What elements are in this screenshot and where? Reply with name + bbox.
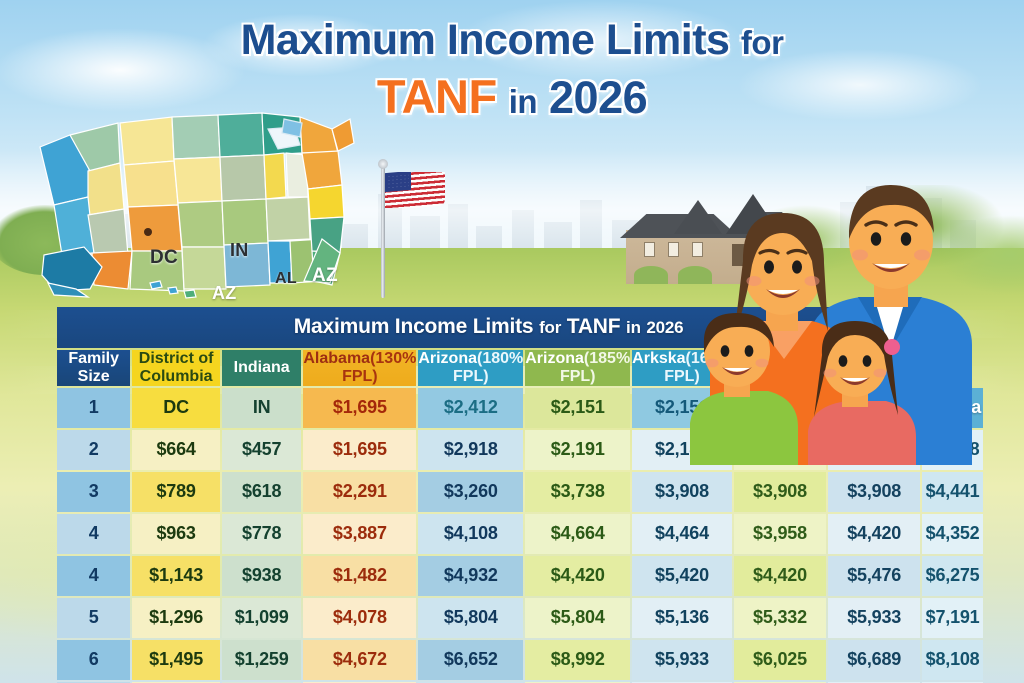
cell-value: $6,689 <box>828 640 920 680</box>
cell-value: $2,191 <box>525 430 630 470</box>
cell-family-size: 3 <box>57 472 130 512</box>
column-header-0[interactable]: FamilySize <box>57 350 130 386</box>
map-label-az-4: AZ <box>212 283 237 304</box>
cell-value: $1,695 <box>303 430 416 470</box>
cell-value: DC <box>132 388 220 428</box>
cell-value: $2,181 <box>632 430 732 470</box>
cell-value: $789 <box>132 472 220 512</box>
column-header-name: Arizona <box>525 350 584 367</box>
cell-value: $1,099 <box>222 598 301 638</box>
map-label-al-2: AL <box>275 270 297 288</box>
cell-value: $4,441 <box>922 472 983 512</box>
table-row: 5$1,296$1,099$4,078$5,804$5,804$5,136$5,… <box>57 598 983 638</box>
income-limits-table-wrapper: Maximum Income Limits for TANF in 2026 F… <box>55 305 985 683</box>
column-header-2[interactable]: Indiana <box>222 350 301 386</box>
title-tanf-text: TANF <box>377 70 497 123</box>
column-header-6[interactable]: Arkska(165% FPL) <box>632 350 732 386</box>
cell-family-size: 2 <box>57 430 130 470</box>
table-title-year: 2026 <box>646 318 683 337</box>
cell-value: $6,025 <box>734 640 826 680</box>
table-title-in: in <box>626 318 641 337</box>
cell-value: $4,108 <box>418 514 523 554</box>
column-header-name: Arkska <box>632 350 685 367</box>
cell-value: $4,420 <box>828 514 920 554</box>
cell-family-size: 6 <box>57 640 130 680</box>
cell-value: $3,958 <box>734 514 826 554</box>
column-header-name2: Columbia <box>140 368 213 385</box>
cell-value: $963 <box>132 514 220 554</box>
cell-value: $1,143 <box>132 556 220 596</box>
cell-value: Alaska <box>922 388 983 428</box>
cell-value: $3,698 <box>922 430 983 470</box>
cell-value: $1,695 <box>303 388 416 428</box>
cell-value: $5,476 <box>828 556 920 596</box>
title-for-text: for <box>741 24 784 61</box>
income-limits-table: Maximum Income Limits for TANF in 2026 F… <box>55 305 985 683</box>
map-label-in-1: IN <box>230 240 249 261</box>
cell-value: $5,804 <box>418 598 523 638</box>
cell-value: $7,191 <box>922 598 983 638</box>
table-column-header-row: FamilySizeDistrict ofColumbiaIndianaAlab… <box>57 350 983 386</box>
cell-family-size: 1 <box>57 388 130 428</box>
cell-family-size: 4 <box>57 556 130 596</box>
cell-value: $1,482 <box>303 556 416 596</box>
cell-family-size: 4 <box>57 514 130 554</box>
cell-value: $4,932 <box>418 556 523 596</box>
cell-value: $5,933 <box>828 598 920 638</box>
column-header-name2: Size <box>78 368 110 385</box>
map-marker-dot <box>144 228 152 236</box>
cell-value: $778 <box>222 514 301 554</box>
table-body: 1DCIN$1,695$2,412$2,151$2,151$2,608Alask… <box>57 388 983 683</box>
cell-value: $5,420 <box>632 556 732 596</box>
cell-value: $5,933 <box>632 640 732 680</box>
column-header-7[interactable] <box>734 350 826 386</box>
title-main-text: Maximum Income Limits <box>241 16 730 64</box>
cell-value: $4,078 <box>303 598 416 638</box>
column-header-name: Arizona <box>418 350 477 367</box>
page-title: Maximum Income Limits for TANF in 2026 <box>0 18 1024 124</box>
column-header-5[interactable]: Arizona(185% FPL) <box>525 350 630 386</box>
cell-value: $6,275 <box>922 556 983 596</box>
column-header-4[interactable]: Arizona(180% FPL) <box>418 350 523 386</box>
column-header-name: Family <box>68 350 119 367</box>
table-title-for: for <box>539 318 561 337</box>
cell-value: $4,420 <box>734 556 826 596</box>
table-row: 2$664$457$1,695$2,918$2,191$2,181$3,608$… <box>57 430 983 470</box>
column-header-3[interactable]: Alabama(130% FPL) <box>303 350 416 386</box>
cell-value: $664 <box>132 430 220 470</box>
cell-value: $4,352 <box>922 514 983 554</box>
table-row: 6$1,495$1,259$4,672$6,652$8,992$5,933$6,… <box>57 640 983 680</box>
cell-value: $8,108 <box>922 640 983 680</box>
map-label-az-3: AZ <box>312 265 338 287</box>
cell-value: $3,908 <box>734 472 826 512</box>
us-flag <box>385 172 445 208</box>
title-in-text: in <box>509 83 537 120</box>
cell-value: $3,738 <box>525 472 630 512</box>
cell-value: $3,260 <box>418 472 523 512</box>
cell-value: $4,420 <box>525 556 630 596</box>
cell-value: $1,495 <box>132 640 220 680</box>
column-header-1[interactable]: District ofColumbia <box>132 350 220 386</box>
table-row: 4$1,143$938$1,482$4,932$4,420$5,420$4,42… <box>57 556 983 596</box>
cell-family-size: 5 <box>57 598 130 638</box>
cell-value: $938 <box>222 556 301 596</box>
column-header-8[interactable] <box>828 350 920 386</box>
column-header-name: Indiana <box>234 359 290 376</box>
cell-value: $5,332 <box>734 598 826 638</box>
title-year-text: 2026 <box>549 72 647 123</box>
suburban-house <box>620 192 810 284</box>
cell-value: $2,412 <box>418 388 523 428</box>
table-title-main: Maximum Income Limits <box>294 315 534 338</box>
cell-value: $4,672 <box>303 640 416 680</box>
cell-value: $8,992 <box>525 640 630 680</box>
cell-value: $3,908 <box>828 472 920 512</box>
cell-value: $2,151 <box>632 388 732 428</box>
cell-value: Alaska <box>828 388 920 428</box>
cell-value: $5,136 <box>632 598 732 638</box>
map-label-dc-0: DC <box>150 247 178 269</box>
cell-value: $2,918 <box>418 430 523 470</box>
table-title-tanf: TANF <box>567 315 621 338</box>
cell-value: $6,652 <box>418 640 523 680</box>
cell-value: $4,464 <box>632 514 732 554</box>
united-states-map: DCINALAZAZAZAK <box>32 105 362 300</box>
cell-value: $457 <box>222 430 301 470</box>
infographic-canvas: DCINALAZAZAZAK Maximum Income Limits for… <box>0 0 1024 683</box>
cell-value: $2,908 <box>828 430 920 470</box>
table-row: 3$789$618$2,291$3,260$3,738$3,908$3,908$… <box>57 472 983 512</box>
table-row: 4$963$778$3,887$4,108$4,664$4,464$3,958$… <box>57 514 983 554</box>
cell-value: $4,664 <box>525 514 630 554</box>
cell-value: $618 <box>222 472 301 512</box>
table-row: 1DCIN$1,695$2,412$2,151$2,151$2,608Alask… <box>57 388 983 428</box>
cell-value: $2,608 <box>734 388 826 428</box>
column-header-name: District of <box>139 350 214 367</box>
cell-value: $3,887 <box>303 514 416 554</box>
table-title-bar: Maximum Income Limits for TANF in 2026 <box>57 307 983 348</box>
cell-value: $1,296 <box>132 598 220 638</box>
cell-value: $2,291 <box>303 472 416 512</box>
cell-value: $3,608 <box>734 430 826 470</box>
cell-value: $1,259 <box>222 640 301 680</box>
cell-value: $3,908 <box>632 472 732 512</box>
column-header-name: Alabama <box>303 350 370 367</box>
cell-value: $5,804 <box>525 598 630 638</box>
cell-value: IN <box>222 388 301 428</box>
cell-value: $2,151 <box>525 388 630 428</box>
